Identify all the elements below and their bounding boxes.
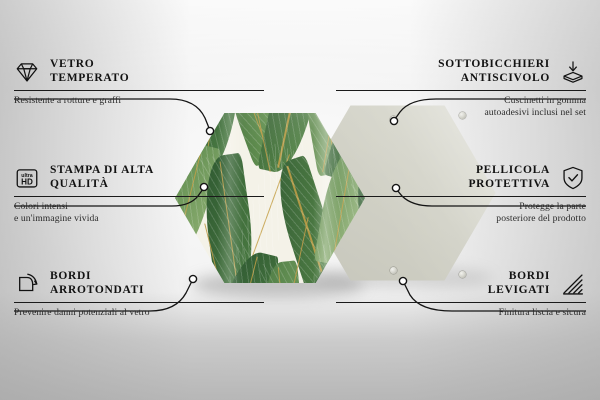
feature-header: ultra HD STAMPA DI ALTA QUALITÀ	[14, 164, 264, 191]
feature-sottobicchieri-antiscivolo: SOTTOBICCHIERI ANTISCIVOLO Cuscinetti in…	[336, 58, 586, 118]
subtitle-line: Cuscinetti in gomma	[336, 95, 586, 107]
polished-edge-icon	[560, 271, 586, 297]
feature-stampa-alta-qualita: ultra HD STAMPA DI ALTA QUALITÀ Colori i…	[14, 164, 264, 224]
subtitle-line: e un'immagine vivida	[14, 213, 264, 225]
ultra-hd-icon: ultra HD	[14, 165, 40, 191]
feature-title: VETRO TEMPERATO	[50, 58, 129, 85]
feature-bordi-levigati: BORDI LEVIGATI Finitura liscia e sicura	[336, 270, 586, 319]
leaf	[175, 113, 203, 158]
feature-title: BORDI ARROTONDATI	[50, 270, 144, 297]
divider	[14, 196, 264, 197]
subtitle-line: autoadesivi inclusi nel set	[336, 107, 586, 119]
subtitle-line: posteriore del prodotto	[336, 213, 586, 225]
divider	[14, 90, 264, 91]
feature-title: SOTTOBICCHIERI ANTISCIVOLO	[438, 58, 550, 85]
feature-bordi-arrotondati: BORDI ARROTONDATI Prevenire danni potenz…	[14, 270, 264, 319]
feature-title: STAMPA DI ALTA QUALITÀ	[50, 164, 154, 191]
rounded-corner-icon	[14, 271, 40, 297]
stem	[175, 113, 197, 166]
feature-header: VETRO TEMPERATO	[14, 58, 264, 85]
feature-header: BORDI LEVIGATI	[336, 270, 586, 297]
feature-subtitle: Resistente a rotture e graffi	[14, 95, 264, 107]
subtitle-line: Protegge la parte	[336, 201, 586, 213]
shield-check-icon	[560, 165, 586, 191]
divider	[14, 302, 264, 303]
feature-vetro-temperato: VETRO TEMPERATO Resistente a rotture e g…	[14, 58, 264, 107]
feature-title: BORDI LEVIGATI	[488, 270, 550, 297]
feature-subtitle: Protegge la parte posteriore del prodott…	[336, 201, 586, 224]
feature-header: SOTTOBICCHIERI ANTISCIVOLO	[336, 58, 586, 85]
feature-subtitle: Cuscinetti in gomma autoadesivi inclusi …	[336, 95, 586, 118]
feature-header: BORDI ARROTONDATI	[14, 270, 264, 297]
product-infographic: VETRO TEMPERATO Resistente a rotture e g…	[0, 0, 600, 400]
feature-title: PELLICOLA PROTETTIVA	[468, 164, 550, 191]
feature-header: PELLICOLA PROTETTIVA	[336, 164, 586, 191]
anti-slip-pad-icon	[560, 59, 586, 85]
diamond-icon	[14, 59, 40, 85]
feature-subtitle: Colori intensi e un'immagine vivida	[14, 201, 264, 224]
feature-subtitle: Finitura liscia e sicura	[336, 307, 586, 319]
subtitle-line: Colori intensi	[14, 201, 264, 213]
feature-pellicola-protettiva: PELLICOLA PROTETTIVA Protegge la parte p…	[336, 164, 586, 224]
feature-subtitle: Prevenire danni potenziali al vetro	[14, 307, 264, 319]
divider	[336, 90, 586, 91]
svg-text:HD: HD	[21, 177, 33, 186]
divider	[336, 196, 586, 197]
divider	[336, 302, 586, 303]
